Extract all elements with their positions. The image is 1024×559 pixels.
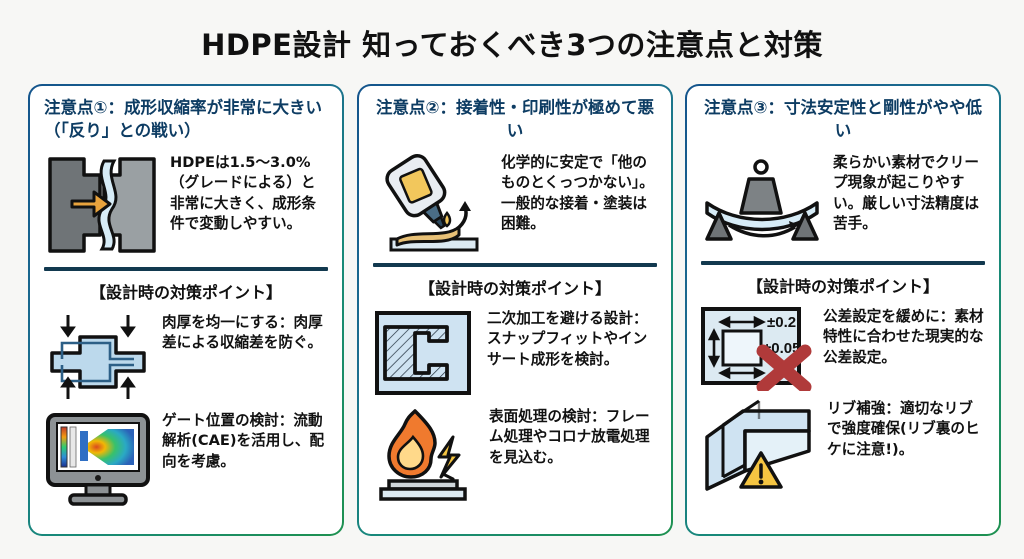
card-2-problem-text: 化学的に安定で「他のものとくっつかない」。一般的な接着・塗装は困難。	[501, 151, 659, 235]
card-2-divider	[373, 263, 657, 267]
page-title: HDPE設計 知っておくべき3つの注意点と対策	[0, 22, 1024, 64]
card-1-heading: 注意点①：成形収縮率が非常に大きい（「反り」との戦い）	[30, 86, 342, 147]
card-1-measure-row-1: 肉厚を均一にする：肉厚差による収縮差を防ぐ。	[30, 307, 342, 405]
mold-warpage-icon	[42, 151, 162, 259]
card-3-problem-text: 柔らかい素材でクリープ現象が起こりやすい。厳しい寸法精度は苦手。	[833, 151, 987, 235]
flame-treatment-icon	[371, 405, 481, 503]
card-1-measure-row-2: ゲート位置の検討：流動解析(CAE)を活用し、配向を考慮。	[30, 405, 342, 511]
card-3-measure-row-1: ±0.2 ±0.05 公差設定を緩めに：素材特性に合わせた現実的な公差設定。	[687, 301, 999, 393]
snap-fit-section-icon	[371, 307, 479, 399]
card-3-measure-text-1: 公差設定を緩めに：素材特性に合わせた現実的な公差設定。	[823, 305, 987, 368]
creep-beam-icon	[699, 151, 825, 253]
card-2-measure-text-2: 表面処理の検討：フレーム処理やコロナ放電処理を見込む。	[489, 405, 659, 468]
card-2-measure-row-2: 表面処理の検討：フレーム処理やコロナ放電処理を見込む。	[359, 401, 671, 505]
cae-monitor-icon	[42, 409, 154, 509]
card-3-section-label: 【設計時の対策ポイント】	[687, 267, 999, 301]
card-caution-2: 注意点②：接着性・印刷性が極めて悪い	[357, 84, 673, 536]
infographic-page: HDPE設計 知っておくべき3つの注意点と対策 注意点①：成形収縮率が非常に大き…	[0, 0, 1024, 559]
card-2-problem-row: 化学的に安定で「他のものとくっつかない」。一般的な接着・塗装は困難。	[359, 147, 671, 257]
card-caution-1: 注意点①：成形収縮率が非常に大きい（「反り」との戦い） HDPEは1.5〜3.0…	[28, 84, 344, 536]
card-3-measure-row-2: リブ補強：適切なリブで強度確保(リブ裏のヒケに注意!)。	[687, 393, 999, 497]
card-2-heading: 注意点②：接着性・印刷性が極めて悪い	[359, 86, 671, 147]
rib-reinforcement-icon	[699, 397, 819, 495]
glue-bottle-icon	[371, 151, 493, 255]
card-3-divider	[701, 261, 985, 265]
uniform-wall-thickness-icon	[42, 311, 154, 403]
card-2-measure-text-1: 二次加工を避ける設計：スナップフィットやインサート成形を検討。	[487, 307, 659, 370]
tolerance-reject-icon: ±0.2 ±0.05	[699, 305, 815, 391]
card-1-divider	[44, 267, 328, 271]
card-2-section-label: 【設計時の対策ポイント】	[359, 269, 671, 303]
card-1-section-label: 【設計時の対策ポイント】	[30, 273, 342, 307]
card-1-measure-text-2: ゲート位置の検討：流動解析(CAE)を活用し、配向を考慮。	[162, 409, 330, 472]
card-caution-3: 注意点③：寸法安定性と剛性がやや低い 柔らかい素材でクリープ現象が起こりやすい。…	[685, 84, 1001, 536]
card-1-measure-text-1: 肉厚を均一にする：肉厚差による収縮差を防ぐ。	[162, 311, 330, 354]
card-3-heading: 注意点③：寸法安定性と剛性がやや低い	[687, 86, 999, 147]
card-3-problem-row: 柔らかい素材でクリープ現象が起こりやすい。厳しい寸法精度は苦手。	[687, 147, 999, 255]
card-1-problem-text: HDPEは1.5〜3.0%（グレードによる）と非常に大きく、成形条件で変動しやす…	[170, 151, 330, 235]
card-3-measure-text-2: リブ補強：適切なリブで強度確保(リブ裏のヒケに注意!)。	[827, 397, 987, 460]
card-1-problem-row: HDPEは1.5〜3.0%（グレードによる）と非常に大きく、成形条件で変動しやす…	[30, 147, 342, 261]
tolerance-horizontal-label: ±0.2	[767, 314, 796, 331]
card-2-measure-row-1: 二次加工を避ける設計：スナップフィットやインサート成形を検討。	[359, 303, 671, 401]
